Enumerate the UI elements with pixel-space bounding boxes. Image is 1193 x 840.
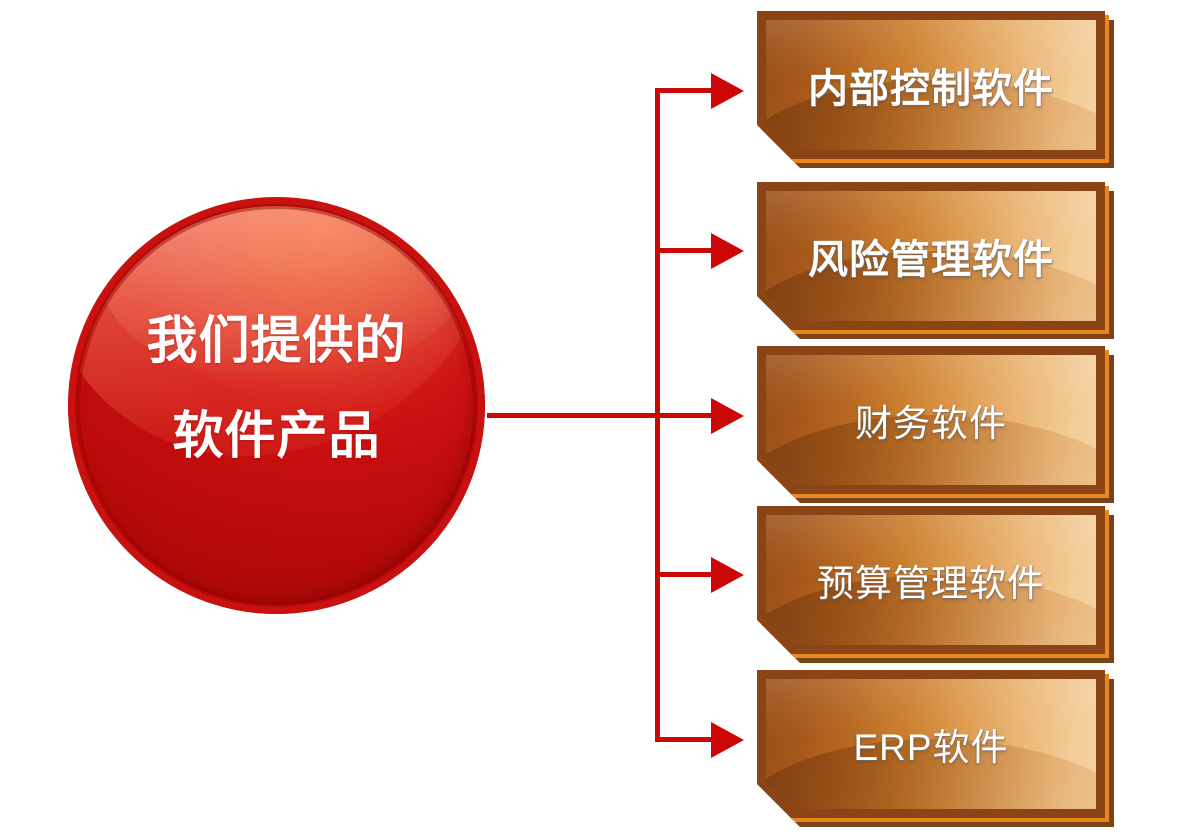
connector-trunk	[487, 413, 659, 418]
branch-box-2[interactable]: 风险管理软件	[757, 182, 1105, 330]
connector-stub-2	[655, 248, 714, 253]
branch-box-1[interactable]: 内部控制软件	[757, 11, 1105, 159]
connector-stub-1	[655, 88, 714, 93]
arrow-right-icon-3	[711, 398, 744, 434]
branch-label-4: 预算管理软件	[757, 506, 1105, 654]
arrow-right-icon-5	[711, 722, 744, 758]
branch-label-5: ERP软件	[757, 670, 1105, 818]
arrow-right-icon-4	[711, 557, 744, 593]
connector-stub-4	[655, 572, 714, 577]
branch-label-1: 内部控制软件	[757, 11, 1105, 159]
branch-box-3[interactable]: 财务软件	[757, 346, 1105, 494]
connector-stub-3	[655, 413, 714, 418]
hub-label-line1: 我们提供的	[68, 293, 485, 388]
hub-circle[interactable]: 我们提供的 软件产品	[68, 197, 485, 614]
arrow-right-icon-2	[711, 233, 744, 269]
branch-box-4[interactable]: 预算管理软件	[757, 506, 1105, 654]
diagram-canvas: 我们提供的 软件产品 内部控制软件 风险管理软件	[0, 0, 1193, 840]
branch-box-5[interactable]: ERP软件	[757, 670, 1105, 818]
arrow-right-icon-1	[711, 73, 744, 109]
connector-stub-5	[655, 737, 714, 742]
branch-label-3: 财务软件	[757, 346, 1105, 494]
hub-label-line2: 软件产品	[68, 388, 485, 483]
branch-label-2: 风险管理软件	[757, 182, 1105, 330]
